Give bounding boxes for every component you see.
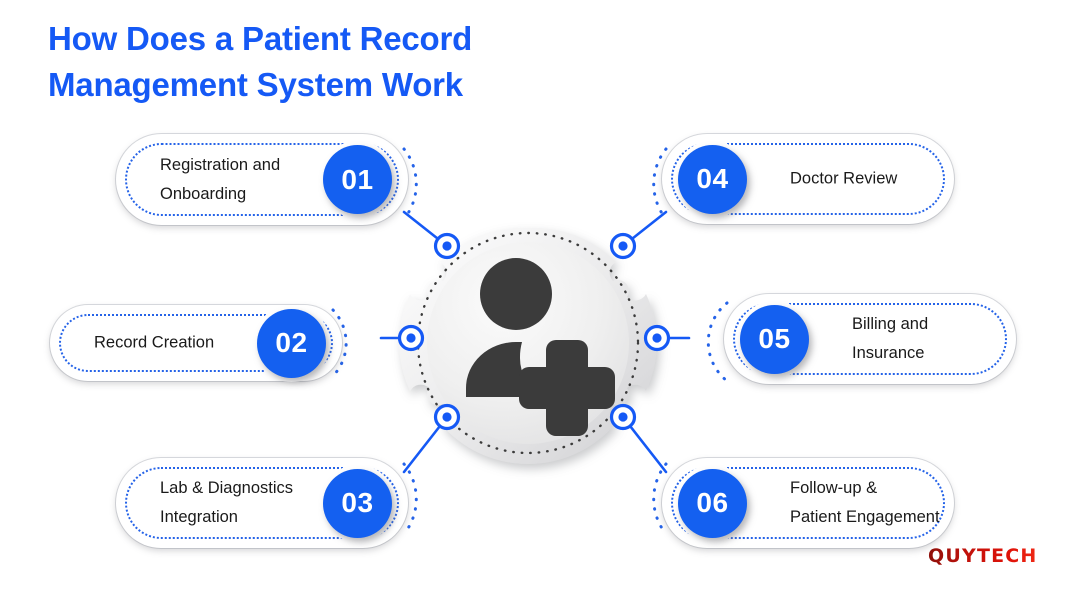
hub-node-02 [400, 327, 423, 350]
step-card-02[interactable]: Record Creation 02 [50, 305, 342, 381]
step-label-02: Record Creation [94, 329, 214, 358]
step-card-03[interactable]: Lab & Diagnostics Integration 03 [116, 458, 408, 548]
step-number-05: 05 [740, 305, 809, 374]
hub-node-01 [436, 235, 459, 258]
step-card-01[interactable]: Registration and Onboarding 01 [116, 134, 408, 225]
step-label-05: Billing and Insurance [852, 310, 928, 368]
step-card-04[interactable]: Doctor Review 04 [662, 134, 954, 224]
infographic-canvas: How Does a Patient Record Management Sys… [0, 0, 1069, 609]
hub-node-03 [436, 406, 459, 429]
hub-node-04 [612, 235, 635, 258]
quytech-logo: QUYTECH [928, 545, 1038, 567]
hub-node-06 [612, 406, 635, 429]
step-label-06: Follow-up & Patient Engagement [790, 474, 940, 532]
step-label-01: Registration and Onboarding [160, 151, 280, 209]
step-number-02: 02 [257, 309, 326, 378]
step-card-05[interactable]: Billing and Insurance 05 [724, 294, 1016, 384]
step-label-04: Doctor Review [790, 165, 897, 194]
step-number-06: 06 [678, 469, 747, 538]
step-label-03: Lab & Diagnostics Integration [160, 474, 293, 532]
step-number-03: 03 [323, 469, 392, 538]
step-number-04: 04 [678, 145, 747, 214]
hub-node-05 [646, 327, 669, 350]
step-card-06[interactable]: Follow-up & Patient Engagement 06 [662, 458, 954, 548]
step-number-01: 01 [323, 145, 392, 214]
